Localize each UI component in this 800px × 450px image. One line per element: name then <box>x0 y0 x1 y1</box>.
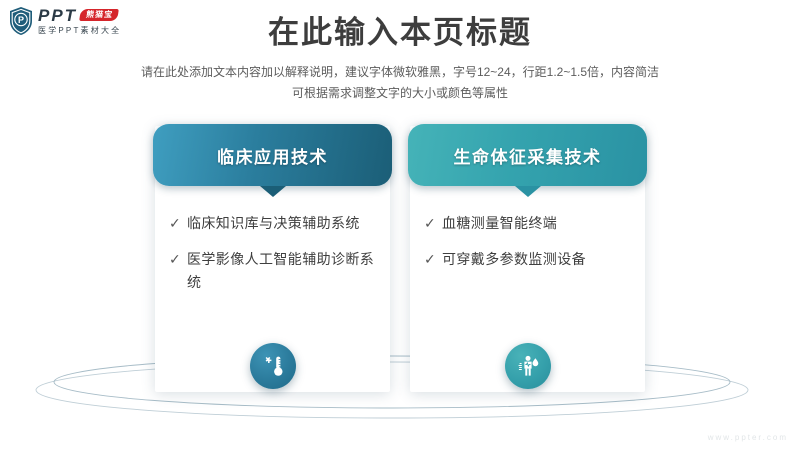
list-item: ✓ 血糖测量智能终端 <box>424 212 632 235</box>
subtitle-line-2: 可根据需求调整文字的大小或颜色等属性 <box>0 83 800 104</box>
list-item-label: 临床知识库与决策辅助系统 <box>187 212 360 235</box>
subtitle-line-1: 请在此处添加文本内容加以解释说明，建议字体微软雅黑，字号12~24，行距1.2~… <box>0 62 800 83</box>
card-title: 临床应用技术 <box>217 143 328 168</box>
card-header-vitals: 生命体征采集技术 <box>408 124 647 186</box>
header-notch-icon <box>515 186 541 197</box>
check-icon: ✓ <box>424 212 442 235</box>
watermark: www.ppter.com <box>708 433 788 442</box>
card-vital-signs[interactable]: 生命体征采集技术 ✓ 血糖测量智能终端 ✓ 可穿戴多参数监测设备 <box>410 126 645 392</box>
card-clinical-application[interactable]: 临床应用技术 ✓ 临床知识库与决策辅助系统 ✓ 医学影像人工智能辅助诊断系统 <box>155 126 390 392</box>
bullet-list: ✓ 临床知识库与决策辅助系统 ✓ 医学影像人工智能辅助诊断系统 <box>169 212 377 307</box>
list-item: ✓ 可穿戴多参数监测设备 <box>424 248 632 271</box>
thermometer-icon <box>250 343 296 389</box>
slide-canvas: P PPT 熊猫宝 医学PPT素材大全 在此输入本页标题 请在此处添加文本内容加… <box>0 0 800 450</box>
list-item-label: 血糖测量智能终端 <box>442 212 557 235</box>
list-item-label: 可穿戴多参数监测设备 <box>442 248 586 271</box>
card-title: 生命体征采集技术 <box>454 143 602 168</box>
check-icon: ✓ <box>424 248 442 271</box>
page-subtitle: 请在此处添加文本内容加以解释说明，建议字体微软雅黑，字号12~24，行距1.2~… <box>0 62 800 104</box>
header-notch-icon <box>260 186 286 197</box>
list-item-label: 医学影像人工智能辅助诊断系统 <box>187 248 377 294</box>
bullet-list: ✓ 血糖测量智能终端 ✓ 可穿戴多参数监测设备 <box>424 212 632 284</box>
check-icon: ✓ <box>169 248 187 271</box>
cards-container: 临床应用技术 ✓ 临床知识库与决策辅助系统 ✓ 医学影像人工智能辅助诊断系统 <box>0 126 800 406</box>
list-item: ✓ 医学影像人工智能辅助诊断系统 <box>169 248 377 294</box>
page-title: 在此输入本页标题 <box>0 14 800 52</box>
body-vitals-icon <box>505 343 551 389</box>
list-item: ✓ 临床知识库与决策辅助系统 <box>169 212 377 235</box>
card-header-clinical: 临床应用技术 <box>153 124 392 186</box>
check-icon: ✓ <box>169 212 187 235</box>
